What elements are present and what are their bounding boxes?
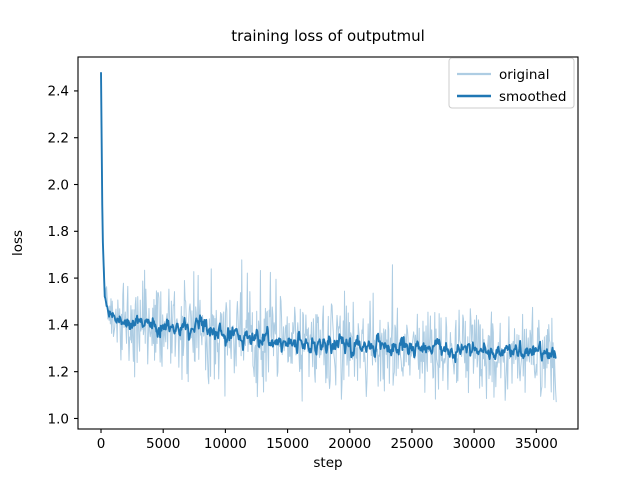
y-tick-label: 2.4 (48, 84, 69, 100)
x-tick-label: 10000 (204, 436, 247, 452)
y-tick-label: 1.6 (48, 271, 69, 287)
legend-label-smoothed: smoothed (499, 89, 566, 105)
y-tick-label: 1.8 (48, 224, 69, 240)
matplotlib-figure: 05000100001500020000250003000035000 1.01… (0, 0, 640, 480)
x-tick-label: 25000 (390, 436, 433, 452)
y-tick-label: 2.2 (48, 131, 69, 147)
x-tick-label: 35000 (515, 436, 558, 452)
x-tick-label: 20000 (328, 436, 371, 452)
y-axis-label: loss (10, 230, 26, 256)
y-tick-label: 1.4 (48, 318, 69, 334)
y-tick-label: 1.2 (48, 364, 69, 380)
x-tick-label: 15000 (266, 436, 309, 452)
y-tick-label: 1.0 (48, 411, 69, 427)
x-axis-label: step (313, 455, 342, 471)
y-tick-label: 2.0 (48, 177, 69, 193)
x-tick-label: 5000 (146, 436, 180, 452)
x-tick-label: 0 (97, 436, 106, 452)
x-tick-label: 30000 (453, 436, 496, 452)
legend-label-original: original (499, 67, 549, 83)
chart-canvas: 05000100001500020000250003000035000 1.01… (0, 0, 640, 480)
chart-legend[interactable]: originalsmoothed (449, 58, 574, 108)
chart-title: training loss of outputmul (231, 27, 425, 45)
